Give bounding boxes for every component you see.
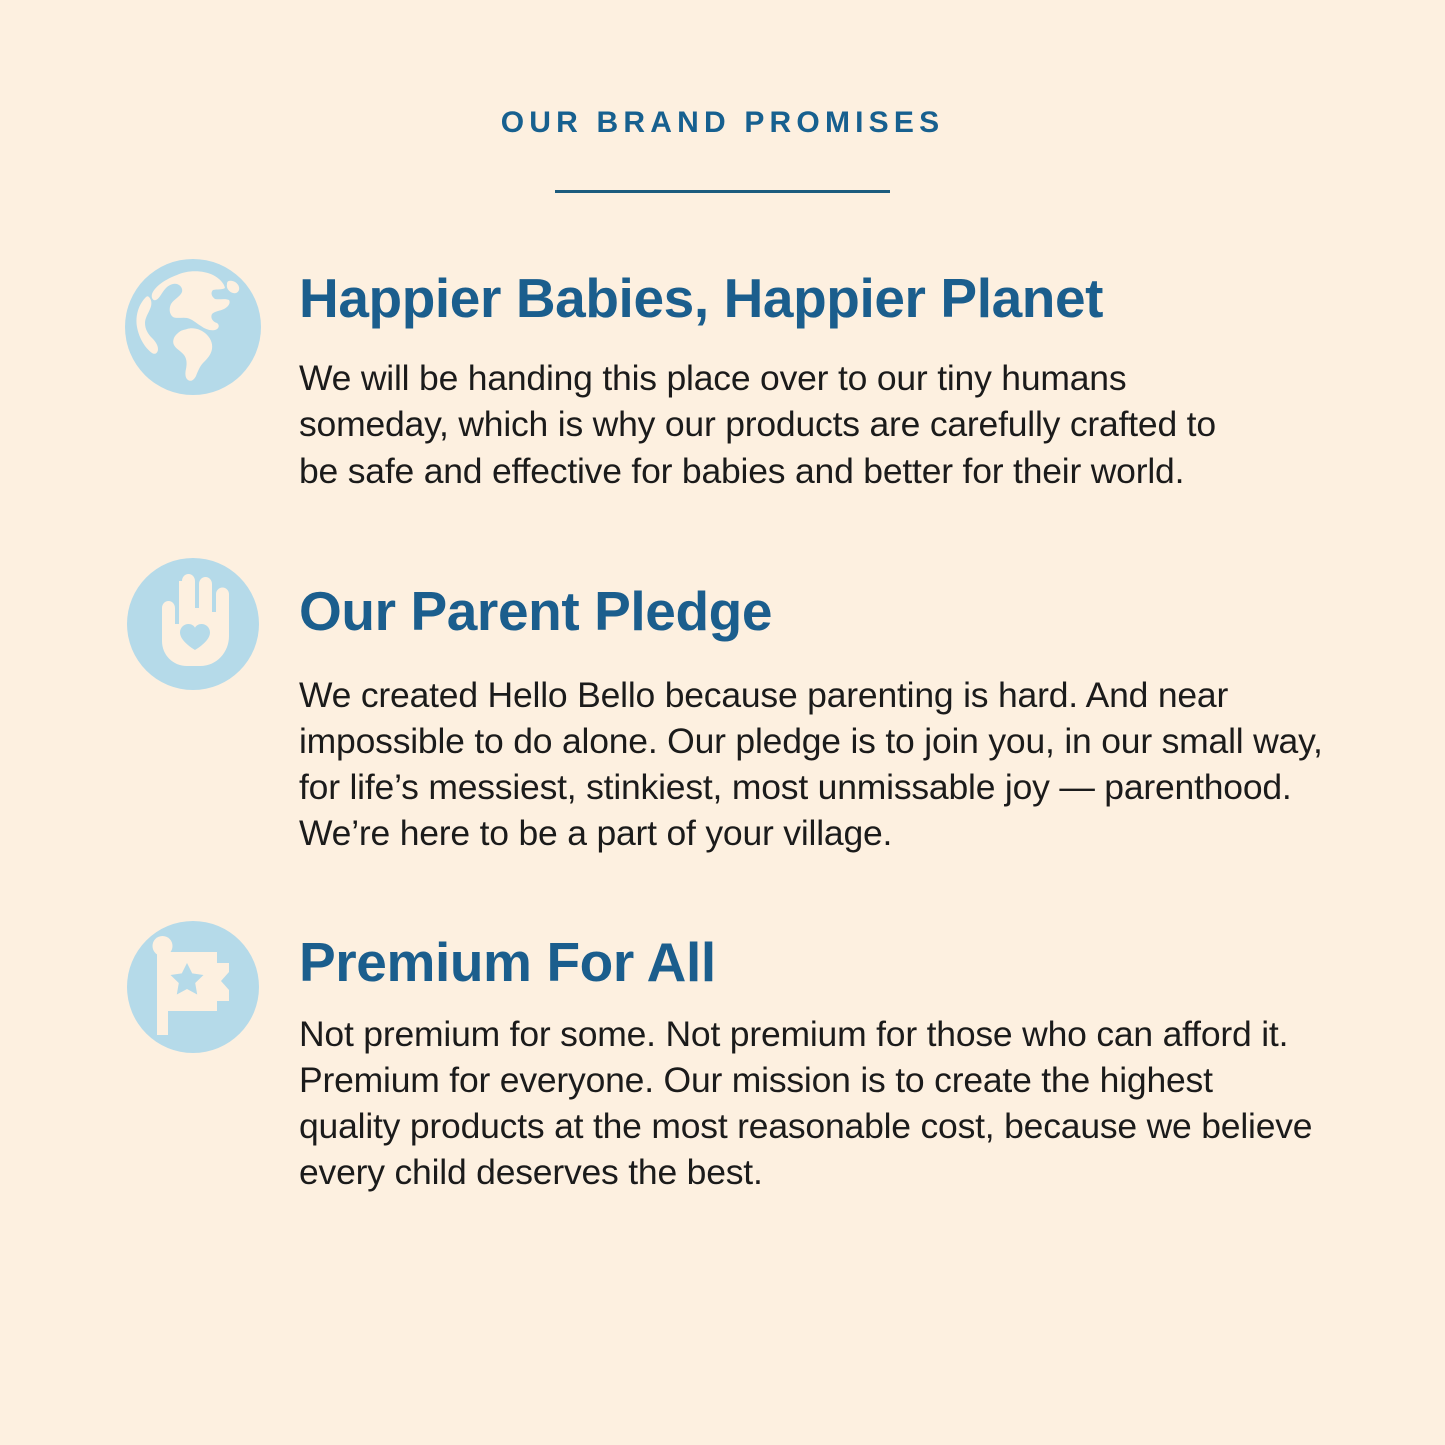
title-divider <box>555 190 890 193</box>
promise-text: We created Hello Bello because parenting… <box>299 672 1324 857</box>
promise-item: Premium For All Not premium for some. No… <box>125 919 1325 1196</box>
brand-promises-page: OUR BRAND PROMISES <box>0 0 1445 1445</box>
promise-title: Happier Babies, Happier Planet <box>299 269 1325 327</box>
promise-text: Not premium for some. Not premium for th… <box>299 1011 1314 1196</box>
promises-list: Happier Babies, Happier Planet We will b… <box>0 259 1445 1195</box>
globe-icon <box>125 259 261 395</box>
promise-item: Our Parent Pledge We created Hello Bello… <box>125 556 1325 857</box>
promise-body: Our Parent Pledge We created Hello Bello… <box>299 556 1325 857</box>
title-divider-wrap <box>0 190 1445 193</box>
promise-title: Premium For All <box>299 933 1325 991</box>
promise-body: Happier Babies, Happier Planet We will b… <box>299 259 1325 494</box>
promise-item: Happier Babies, Happier Planet We will b… <box>125 259 1325 494</box>
hand-heart-icon <box>125 556 261 692</box>
promise-body: Premium For All Not premium for some. No… <box>299 919 1325 1196</box>
flag-star-icon <box>125 919 261 1055</box>
promise-title: Our Parent Pledge <box>299 582 1325 640</box>
page-title: OUR BRAND PROMISES <box>0 108 1445 138</box>
promise-text: We will be handing this place over to ou… <box>299 355 1259 493</box>
page-header: OUR BRAND PROMISES <box>0 0 1445 193</box>
